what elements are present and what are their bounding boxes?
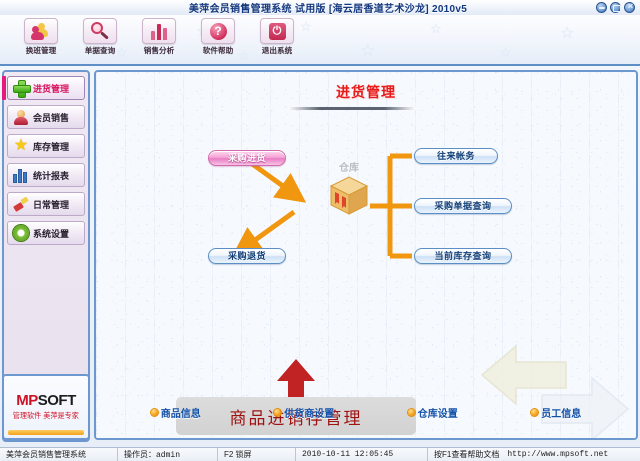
window-controls bbox=[596, 2, 640, 13]
bullet-icon bbox=[408, 409, 415, 416]
logo-tagline: 管理软件 美萍是专家 bbox=[13, 410, 79, 420]
bar-chart-icon bbox=[13, 167, 29, 183]
toolbar-button-document-query[interactable]: 单据查询 bbox=[77, 18, 123, 56]
toolbar-button-label: 软件帮助 bbox=[203, 45, 233, 55]
green-plus-icon bbox=[13, 80, 29, 96]
yellow-star-icon: ★ bbox=[13, 138, 29, 154]
title-underline bbox=[288, 107, 416, 110]
close-button[interactable] bbox=[624, 2, 635, 13]
brand-logo: MPSOFT 管理软件 美萍是专家 bbox=[2, 374, 90, 440]
window-title: 美萍会员销售管理系统 试用版 [海云居香道艺术沙龙] 2010v5 bbox=[0, 0, 596, 15]
toolbar-button-label: 销售分析 bbox=[144, 45, 174, 55]
status-operator: 操作员：admin bbox=[118, 448, 218, 461]
warehouse-label: 仓库 bbox=[339, 159, 359, 174]
link-product-info[interactable]: 商品信息 bbox=[151, 405, 201, 420]
node-current-stock-query[interactable]: 当前库存查询 bbox=[414, 248, 512, 264]
status-bar: 美萍会员销售管理系统 操作员：admin F2 锁屏 2010-10-11 12… bbox=[0, 447, 640, 461]
node-purchase-document-query[interactable]: 采购单据查询 bbox=[414, 198, 512, 214]
sidebar-selected-wrap: 进货管理 bbox=[7, 76, 85, 100]
main-content-panel: 进货管理 仓库 bbox=[94, 70, 638, 440]
warehouse-box-icon bbox=[329, 174, 369, 216]
status-lock-hint[interactable]: F2 锁屏 bbox=[218, 448, 296, 461]
bullet-icon bbox=[274, 409, 281, 416]
background-mosaic-pattern bbox=[96, 72, 636, 438]
toolbar-button-label: 换班管理 bbox=[26, 45, 56, 55]
status-url[interactable]: http://www.mpsoft.net bbox=[507, 450, 608, 459]
page-title: 进货管理 bbox=[96, 82, 636, 102]
sidebar-item-purchase-management[interactable]: 进货管理 bbox=[7, 76, 85, 100]
sidebar-item-label: 统计报表 bbox=[33, 169, 69, 182]
logo-mp-text: MP bbox=[16, 392, 38, 409]
sidebar-item-label: 库存管理 bbox=[33, 140, 69, 153]
search-magnifier-icon bbox=[83, 18, 117, 44]
question-help-icon: ? bbox=[201, 18, 235, 44]
link-label: 供货商设置 bbox=[284, 405, 334, 420]
status-help-hint: 按F1查看帮助文档 bbox=[434, 449, 499, 460]
logo-soft-text: SOFT bbox=[38, 392, 76, 409]
maximize-button[interactable] bbox=[610, 2, 621, 13]
node-purchase-return[interactable]: 采购退货 bbox=[208, 248, 286, 264]
logo-accent-bar bbox=[8, 430, 84, 435]
page-title-text: 进货管理 bbox=[336, 84, 396, 100]
gear-icon bbox=[13, 225, 29, 241]
status-app-name: 美萍会员销售管理系统 bbox=[0, 448, 118, 461]
main-toolbar: ☆ ☆ ☆ ☆ ☆ ☆ ☆ ☆ ☆ 换班管理 单据查询 bbox=[0, 15, 640, 66]
sidebar-item-member-sales[interactable]: 会员销售 bbox=[7, 105, 85, 129]
minimize-button[interactable] bbox=[596, 2, 607, 13]
sidebar-item-label: 进货管理 bbox=[33, 82, 69, 95]
sidebar-selection-marker bbox=[2, 76, 6, 100]
link-warehouse-settings[interactable]: 仓库设置 bbox=[408, 405, 458, 420]
link-label: 仓库设置 bbox=[418, 405, 458, 420]
sidebar-item-label: 系统设置 bbox=[33, 227, 69, 240]
toolbar-button-label: 退出系统 bbox=[262, 45, 292, 55]
sidebar-item-statistics-report[interactable]: 统计报表 bbox=[7, 163, 85, 187]
sidebar-item-inventory-management[interactable]: ★ 库存管理 bbox=[7, 134, 85, 158]
link-label: 商品信息 bbox=[161, 405, 201, 420]
application-window: 美萍会员销售管理系统 试用版 [海云居香道艺术沙龙] 2010v5 ☆ ☆ ☆ … bbox=[0, 0, 640, 461]
bullet-icon bbox=[531, 409, 538, 416]
quick-links-row: 商品信息 供货商设置 仓库设置 员工信息 bbox=[96, 405, 636, 420]
power-exit-icon: ⏻ bbox=[260, 18, 294, 44]
bullet-icon bbox=[151, 409, 158, 416]
sidebar-item-system-settings[interactable]: 系统设置 bbox=[7, 221, 85, 245]
title-bar: 美萍会员销售管理系统 试用版 [海云居香道艺术沙龙] 2010v5 bbox=[0, 0, 640, 15]
node-purchase-inbound[interactable]: 采购进货 bbox=[208, 150, 286, 166]
toolbar-button-software-help[interactable]: ? 软件帮助 bbox=[195, 18, 241, 56]
link-supplier-settings[interactable]: 供货商设置 bbox=[274, 405, 334, 420]
toolbar-button-label: 单据查询 bbox=[85, 45, 115, 55]
status-help-area: 按F1查看帮助文档 http://www.mpsoft.net bbox=[428, 448, 614, 461]
toolbar-button-shift-management[interactable]: 换班管理 bbox=[18, 18, 64, 56]
sidebar-item-label: 会员销售 bbox=[33, 111, 69, 124]
link-label: 员工信息 bbox=[541, 405, 581, 420]
sidebar-item-label: 日常管理 bbox=[33, 198, 69, 211]
bar-chart-icon bbox=[142, 18, 176, 44]
shift-users-icon bbox=[24, 18, 58, 44]
toolbar-button-exit-system[interactable]: ⏻ 退出系统 bbox=[254, 18, 300, 56]
brush-icon bbox=[13, 196, 29, 212]
logo-wordmark: MPSOFT bbox=[16, 393, 76, 408]
red-up-arrow-icon bbox=[274, 357, 318, 401]
status-datetime: 2010-10-11 12:05:45 bbox=[296, 448, 428, 461]
node-account-transactions[interactable]: 往来帐务 bbox=[414, 148, 498, 164]
sidebar-item-daily-management[interactable]: 日常管理 bbox=[7, 192, 85, 216]
member-person-icon bbox=[13, 109, 29, 125]
link-employee-info[interactable]: 员工信息 bbox=[531, 405, 581, 420]
toolbar-button-sales-analysis[interactable]: 销售分析 bbox=[136, 18, 182, 56]
